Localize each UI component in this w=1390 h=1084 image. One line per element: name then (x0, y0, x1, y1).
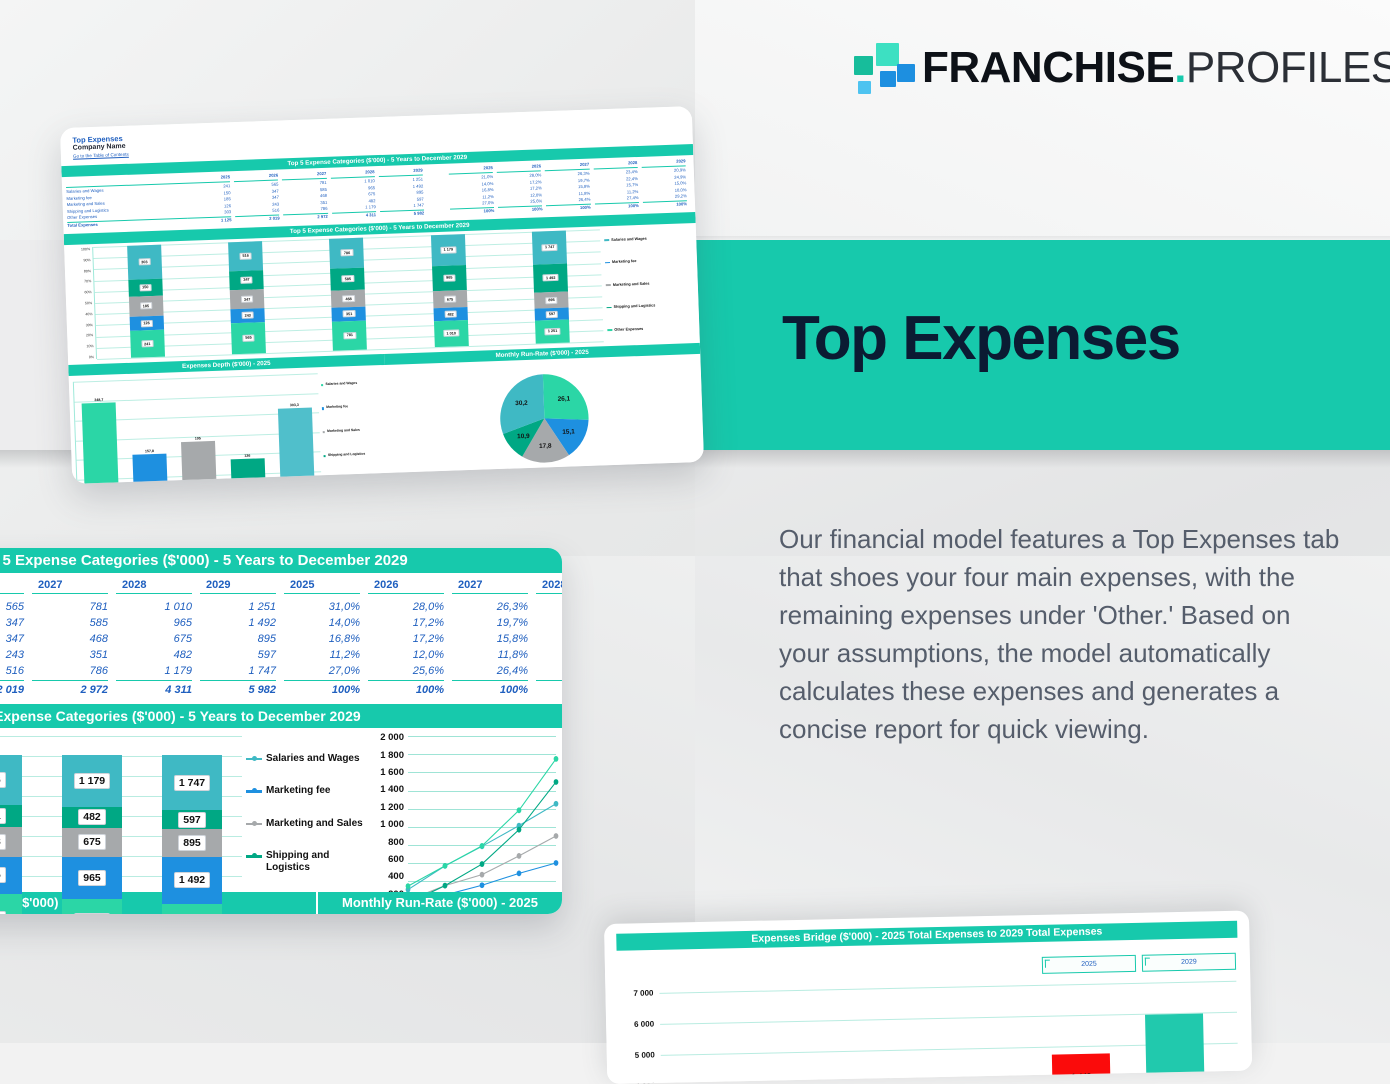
data-label: 347 (240, 276, 253, 283)
depth-legend: Salaries and WagesMarketing feeMarketing… (318, 371, 385, 484)
table-percent-column: 202726,3%19,7%15,8%11,8%26,4%100% (452, 579, 536, 698)
table-cell: 781 (32, 599, 108, 615)
band-top5-table-2: Top 5 Expense Categories ($'000) - 5 Yea… (0, 548, 562, 573)
table-cell: 468 (32, 631, 108, 647)
legend-item: Salaries and Wages (604, 235, 690, 243)
legend-swatch (323, 431, 325, 433)
table-percent-column: 202628,0%17,2%17,2%12,0%25,6%100% (368, 579, 452, 698)
table-cell: 15,7% (536, 631, 562, 647)
line-marker (480, 861, 485, 867)
legend-item: Marketing fee (246, 785, 368, 797)
line-marker (517, 827, 522, 833)
table-value-column: 20291 2511 4928955971 7475 982 (200, 579, 284, 698)
axis-tick: 70% (84, 280, 91, 284)
axis-tick: 10% (86, 344, 93, 348)
axis-tick: 40% (85, 312, 92, 316)
table-cell: 11,2% (536, 647, 562, 663)
stack-segment: 351 (0, 805, 22, 827)
axis-tick: 100% (81, 247, 90, 251)
line-chart-plot-area (408, 736, 556, 914)
depth-bar: 303,3 (277, 403, 314, 484)
waterfall-total-bar (1145, 1013, 1207, 1083)
data-label: 1 747 (542, 244, 558, 252)
logo-word-franchise: FRANCHISE (922, 43, 1174, 92)
expenses-depth-panel: Expenses Depth ($'000) - 2025 348,7157,8… (68, 349, 389, 484)
legend-swatch (246, 855, 262, 858)
table-cell: 786 (32, 663, 108, 679)
table-percent-columns: 202521,0%14,0%16,8%11,2%27,0%100%202628,… (449, 158, 692, 216)
logo-word-profiles: PROFILES (1186, 43, 1390, 92)
legend-label: Shipping and Logistics (613, 304, 655, 310)
stack-segment: 482 (433, 307, 467, 321)
table-cell: 565 (0, 599, 24, 615)
stack-segment: 1 747 (532, 231, 567, 265)
axis-tick: 1 400 (380, 784, 404, 795)
data-label: 565 (242, 334, 255, 341)
table-cell: 17,2% (368, 631, 444, 647)
axis-tick: 800 (388, 837, 404, 848)
table-cell: 23,4% (536, 599, 562, 615)
stack-segment: 1 251 (162, 904, 222, 914)
stack-segment: 895 (162, 829, 222, 857)
table-cell: 347 (0, 615, 24, 631)
data-label: 241 (141, 340, 154, 347)
data-label: 243 (241, 312, 254, 319)
monthly-runrate-panel: Monthly Run-Rate ($'000) - 2025 26,115,1… (384, 338, 704, 484)
data-label: 965 (78, 870, 106, 886)
table-cell: 31,0% (284, 599, 360, 615)
table-row-labels: Salaries and WagesMarketing feeMarketing… (66, 175, 188, 229)
table-cell: 351 (32, 647, 108, 663)
bar-rect (181, 441, 217, 484)
page-description: Our financial model features a Top Expen… (779, 521, 1344, 749)
legend-item: Salaries and Wages (246, 753, 368, 765)
table-cell: 27,0% (284, 663, 360, 679)
table-cell: 12,0% (368, 647, 444, 663)
table-cell: 100% (536, 680, 562, 698)
brand-logo: FRANCHISE.PROFILES (850, 40, 1390, 96)
legend-label: Marketing fee (266, 785, 330, 797)
legend-label: Marketing and Sales (613, 281, 650, 287)
stack-segment: 1 492 (533, 263, 568, 292)
stack-segment: 786 (329, 238, 364, 269)
data-label: 1 492 (174, 872, 210, 888)
data-label: 675 (444, 295, 457, 302)
table-cell: 482 (116, 647, 192, 663)
line-marker (554, 801, 559, 807)
band-top5-chart-2: Top 5 Expense Categories ($'000) - 5 Yea… (0, 704, 562, 728)
table-cell: 100% (368, 680, 444, 698)
data-label: 786 (341, 249, 354, 256)
legend-item: Marketing and Sales (323, 428, 383, 434)
data-label: 1 492 (543, 274, 559, 282)
stack-segment: 1 747 (162, 755, 222, 810)
table-percent-column: 202628,0%17,2%17,2%12,0%25,6%100% (497, 163, 547, 214)
axis-tick: 20% (86, 334, 93, 338)
table-cell: 243 (0, 647, 24, 663)
stack-segment: 482 (62, 807, 122, 828)
legend-item: Salaries and Wages (321, 381, 381, 387)
axis-tick: 50% (85, 301, 92, 305)
table-cell: 11,2% (284, 647, 360, 663)
axis-tick: 1 800 (380, 750, 404, 761)
table-cell: 11,8% (452, 647, 528, 663)
stack-segment: 243 (230, 308, 264, 323)
table-cell: 965 (116, 615, 192, 631)
table-cell: 17,2% (368, 615, 444, 631)
footer-band-expenses-depth: ses Depth ($'000) - 2025 (0, 892, 316, 914)
legend-label: Other Expenses (614, 326, 643, 332)
table-cell: 22,4% (536, 615, 562, 631)
data-label: 895 (545, 296, 558, 303)
axis-tick: 80% (84, 269, 91, 273)
table-value-column: 20281 0109656754821 1794 311 (330, 169, 380, 220)
data-label: 781 (344, 332, 357, 339)
table-cell: 4 311 (116, 680, 192, 698)
line-marker (554, 779, 559, 785)
table-value-columns: 20252411501851263031 1252026565347347243… (186, 167, 429, 225)
legend-swatch (246, 758, 262, 761)
data-label: 1 010 (74, 913, 110, 914)
chart2-plot-area: 7863514685857811 1794826759651 0101 7475… (0, 736, 242, 914)
stacked-column-chart-1: 100%90%80%70%60%50%40%30%20%10%0% 303150… (64, 223, 700, 360)
waterfall-delta-bar: 1 443 (1052, 1053, 1111, 1084)
legend-swatch (605, 262, 610, 264)
spreadsheet-sheet-3: Expenses Bridge ($'000) - 2025 Total Exp… (604, 920, 1252, 1083)
line-chart-2: 2 0001 8001 6001 4001 2001 0008006004002… (368, 728, 562, 914)
stack-segment: 303 (127, 245, 162, 280)
bridge-chart: 7 0006 0005 0004 000 1 0107064711 443 (619, 969, 1238, 1084)
line-chart-y-axis: 2 0001 8001 6001 4001 2001 0008006004002… (370, 732, 404, 914)
line-marker (443, 863, 448, 869)
axis-tick: 5 000 (635, 1050, 655, 1059)
screenshot-card-top-left: Top Expenses Company Name Go to the Tabl… (60, 106, 704, 484)
table-value-column: 20265653473472435162 019 (0, 579, 32, 698)
depth-bar: 348,7 (82, 397, 120, 484)
legend-item: Marketing fee (322, 405, 382, 411)
stack-segment: 347 (229, 270, 264, 290)
stacked-bar: 303150185126241 (127, 245, 165, 358)
table-cell: 28,0% (368, 599, 444, 615)
table-cell: 895 (200, 631, 276, 647)
axis-tick: 30% (86, 323, 93, 327)
stack-segment: 1 179 (431, 234, 466, 266)
logo-dot: . (1174, 43, 1186, 92)
stack-segment: 185 (129, 295, 164, 317)
legend-swatch (321, 384, 323, 386)
stack-segment: 468 (0, 827, 22, 857)
table-value-columns-2: 20265653473472435162 0192027781585468351… (0, 579, 284, 698)
axis-tick: 400 (388, 871, 404, 882)
data-label: 351 (0, 808, 6, 824)
axis-tick: 90% (83, 258, 90, 262)
data-label: 675 (78, 834, 106, 850)
table-value-column: 20291 2511 4928955971 7475 982 (378, 167, 428, 218)
legend-item: Marketing fee (605, 258, 691, 266)
bar-rect (277, 408, 314, 484)
data-label: 303 (138, 258, 151, 265)
table-cell: 1 010 (116, 599, 192, 615)
bar-rect (82, 402, 119, 484)
table-cell: 347 (0, 631, 24, 647)
data-label: 150 (139, 284, 152, 291)
stack-segment: 1 492 (162, 857, 222, 904)
legend-swatch (606, 284, 611, 286)
legend-item: Marketing and Sales (606, 280, 692, 288)
data-label: 126 (140, 320, 153, 327)
stack-segment: 351 (332, 307, 366, 321)
line-marker (480, 843, 485, 849)
bar-rect (133, 454, 168, 484)
data-label: 1 747 (174, 775, 210, 791)
stacked-bar: 1 1799656754821 010 (431, 234, 469, 347)
stack-segment: 1 010 (434, 320, 469, 347)
stack-segment: 1 251 (535, 319, 570, 344)
band-expenses-bridge: Expenses Bridge ($'000) - 2025 Total Exp… (616, 921, 1237, 951)
axis-tick: 1 000 (380, 819, 404, 830)
legend-label: Shipping and Logistics (266, 850, 368, 874)
data-label: 351 (343, 310, 356, 317)
data-label: 1 179 (440, 246, 456, 254)
table-cell: 2 019 (0, 680, 24, 698)
legend-swatch (607, 307, 612, 309)
data-label: 347 (241, 296, 254, 303)
pie-data-label: 26,1 (558, 396, 571, 403)
data-label: 468 (342, 295, 355, 302)
legend-item: Shipping and Logistics (246, 850, 368, 874)
line-marker (443, 883, 448, 889)
footer-band-monthly-runrate: Monthly Run-Rate ($'000) - 2025 (318, 892, 562, 914)
data-label: 597 (546, 310, 559, 317)
data-label: 965 (443, 274, 456, 281)
axis-tick: 600 (388, 854, 404, 865)
table-percent-column: 202521,0%14,0%16,8%11,2%27,0%100% (449, 164, 499, 215)
line-marker (517, 871, 522, 877)
stack-segment: 895 (534, 291, 569, 309)
stacked-bar: 1 7475978951 4921 251 (162, 755, 222, 914)
spreadsheet-sheet-2: Top 5 Expense Categories ($'000) - 5 Yea… (0, 548, 562, 914)
line-marker (554, 756, 559, 762)
table-cell: 100% (452, 680, 528, 698)
axis-tick: 2 000 (380, 732, 404, 743)
legend-item: Shipping and Logistics (606, 302, 692, 310)
table-cell: 27,4% (536, 663, 562, 679)
data-label: 482 (78, 809, 106, 825)
table-value-column: 20252411501851263031 125 (186, 174, 236, 225)
table-value-column: 20265653473472435162 019 (234, 172, 284, 223)
line-marker (554, 860, 559, 866)
stacked-bar: 786351468585781 (0, 755, 22, 914)
screenshot-card-bottom-right: Expenses Bridge ($'000) - 2025 Total Exp… (604, 910, 1252, 1083)
table-cell: 2 972 (32, 680, 108, 698)
pie-data-label: 15,1 (562, 428, 575, 435)
chart2-legend: Salaries and WagesMarketing feeMarketing… (242, 728, 368, 914)
data-label: 516 (239, 252, 252, 259)
data-label: 1 443 (1071, 1072, 1091, 1081)
table-cell: 25,6% (368, 663, 444, 679)
stack-segment: 347 (230, 289, 265, 309)
table-cell: 26,4% (452, 663, 528, 679)
stack-segment: 597 (162, 810, 222, 829)
page-title: Top Expenses (782, 308, 1180, 370)
data-label: 1 179 (74, 773, 110, 789)
axis-tick: 6 000 (634, 1019, 654, 1028)
stack-segment: 150 (128, 278, 163, 296)
table-cell: 1 747 (200, 663, 276, 679)
table-cell: 5 982 (200, 680, 276, 698)
line-marker (480, 883, 485, 889)
legend-label: Shipping and Logistics (328, 452, 365, 457)
legend-swatch (322, 408, 324, 410)
stacked-column-chart-2: 7863514685857811 1794826759651 0101 7475… (0, 728, 242, 914)
table-cell: 597 (200, 647, 276, 663)
table-value-column: 20281 0109656754821 1794 311 (116, 579, 200, 698)
legend-swatch (324, 455, 326, 457)
table-cell: 516 (0, 663, 24, 679)
table-cell: 14,0% (284, 615, 360, 631)
stack-segment: 965 (432, 265, 467, 291)
stack-segment: 786 (0, 755, 22, 805)
table-cell: 15,8% (452, 631, 528, 647)
legend-label: Salaries and Wages (611, 237, 647, 243)
legend-item: Other Expenses (607, 325, 693, 333)
logo-squares-icon (850, 40, 906, 96)
stack-segment: 585 (0, 857, 22, 894)
bridge-plot-area: 1 0107064711 443 (659, 969, 1238, 1084)
legend-label: Marketing and Sales (266, 818, 363, 830)
screenshot-card-bottom-left: Top 5 Expense Categories ($'000) - 5 Yea… (0, 548, 562, 914)
table-percent-column: 202531,0%14,0%16,8%11,2%27,0%100% (284, 579, 368, 698)
stack-segment: 1 010 (62, 899, 122, 914)
table-percent-column: 202823,4%22,4%15,7%11,2%27,4%100% (536, 579, 562, 698)
stacked-bar: 516347347243565 (228, 241, 266, 354)
stack-segment: 241 (130, 330, 165, 358)
stack-segment: 468 (331, 289, 366, 308)
table-cell: 1 492 (200, 615, 276, 631)
data-label: 482 (444, 310, 457, 317)
spreadsheet-sheet-1: Top Expenses Company Name Go to the Tabl… (60, 106, 704, 484)
legend-label: Salaries and Wages (325, 382, 357, 387)
stacked-bar: 1 7471 4928955971 251 (532, 231, 570, 344)
stack-segment: 565 (231, 322, 266, 355)
table-percent-column: 202726,3%19,7%15,8%11,8%26,4%100% (545, 161, 595, 212)
legend-item: Marketing and Sales (246, 818, 368, 830)
pie-data-label: 10,9 (517, 433, 530, 440)
legend-swatch (246, 790, 262, 793)
depth-bar: 195 (181, 436, 217, 484)
data-label: 781 (0, 911, 6, 914)
bridge-y-axis: 7 0006 0005 0004 000 (619, 981, 657, 1084)
pie-chart-icon: 26,115,117,810,930,2 (497, 371, 592, 466)
pie-data-label: 17,8 (539, 443, 552, 450)
data-label: 185 (140, 302, 153, 309)
table-value-column: 20277815854683517862 972 (282, 170, 332, 221)
line-series-group (408, 736, 556, 914)
axis-tick: 1 600 (380, 767, 404, 778)
table-cell: 675 (116, 631, 192, 647)
axis-tick: 60% (84, 290, 91, 294)
stack-segment: 781 (332, 320, 367, 351)
legend-swatch (604, 239, 609, 241)
logo-wordmark: FRANCHISE.PROFILES (922, 46, 1390, 90)
stack-segment: 675 (433, 290, 468, 309)
table-percent-column: 202823,4%22,4%15,7%11,2%27,4%100% (593, 159, 643, 210)
charts-row-2: 7863514685857811 1794826759651 0101 7475… (0, 728, 562, 914)
table-cell: 100% (284, 680, 360, 698)
background-panel-top-right (695, 0, 1390, 240)
table-cell: 585 (32, 615, 108, 631)
data-label: 1 010 (443, 330, 459, 338)
table-cell: 16,8% (284, 631, 360, 647)
line-marker (554, 833, 559, 839)
line-marker (480, 872, 485, 878)
chart1-legend: Salaries and WagesMarketing feeMarketing… (600, 226, 694, 341)
table-value-column: 20277815854683517862 972 (32, 579, 116, 698)
expenses-depth-chart: 348,7157,8195126303,3 Salaries and Wages… (69, 365, 389, 484)
axis-tick: 7 000 (633, 988, 653, 997)
legend-item: Shipping and Logistics (324, 452, 384, 458)
legend-label: Marketing fee (326, 406, 348, 411)
table-cell: 1 179 (116, 663, 192, 679)
depth-bar: 157,8 (132, 449, 168, 484)
line-series (408, 759, 556, 886)
line-marker (517, 808, 522, 814)
stacked-bar: 1 1794826759651 010 (62, 755, 122, 914)
data-label: 786 (0, 772, 6, 788)
axis-tick: 1 200 (380, 802, 404, 813)
data-label: 585 (342, 275, 355, 282)
stack-segment: 126 (129, 316, 163, 331)
table-percent-column: 202920,9%24,9%15,0%10,0%29,2%100% (641, 158, 691, 209)
legend-label: Marketing fee (612, 259, 637, 264)
stack-segment: 585 (331, 267, 366, 290)
stack-segment: 965 (62, 857, 122, 899)
table-cell: 26,3% (452, 599, 528, 615)
stack-segment: 516 (228, 241, 263, 271)
line-marker (517, 853, 522, 859)
legend-swatch (246, 823, 262, 826)
depth-plot-area: 348,7157,8195126303,3 (73, 373, 322, 484)
table-cell: 1 251 (200, 599, 276, 615)
stack-segment: 675 (62, 828, 122, 857)
line-marker (406, 884, 411, 890)
legend-label: Marketing and Sales (327, 429, 360, 434)
stack-segment: 1 179 (62, 755, 122, 806)
data-label: 468 (0, 834, 6, 850)
chart1-plot-area: 3031501851262415163473472435657865854683… (92, 229, 604, 359)
data-label: 585 (0, 867, 6, 883)
lower-chart-row-1: Expenses Depth ($'000) - 2025 348,7157,8… (68, 338, 704, 484)
legend-swatch (607, 329, 612, 331)
data-label: 597 (178, 812, 206, 828)
table-cell: 19,7% (452, 615, 528, 631)
legend-label: Salaries and Wages (266, 753, 360, 765)
table-percent-columns-2: 202531,0%14,0%16,8%11,2%27,0%100%202628,… (284, 579, 562, 698)
data-label: 895 (178, 835, 206, 851)
data-label: 1 251 (545, 328, 561, 336)
pie-data-label: 30,2 (515, 400, 528, 407)
top5-expense-table-2: 20265653473472435162 0192027781585468351… (0, 573, 562, 698)
stack-segment: 781 (0, 894, 22, 914)
stacked-bar: 786585468351781 (329, 238, 367, 351)
